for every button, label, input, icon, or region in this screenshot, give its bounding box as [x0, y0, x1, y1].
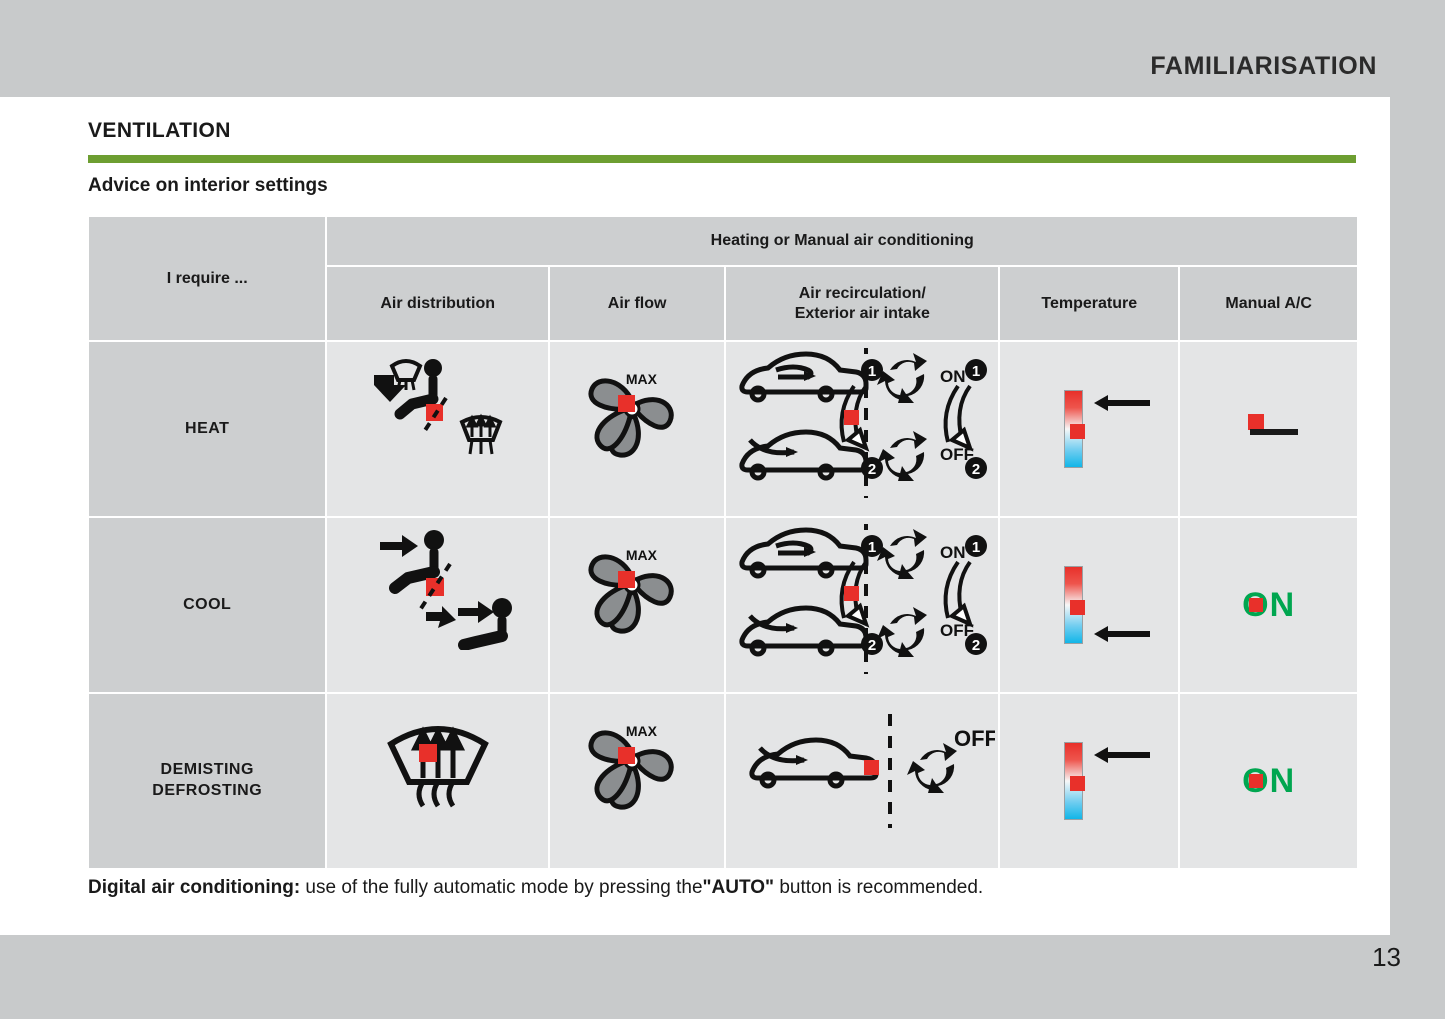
column-header-line2: Exterior air intake — [795, 305, 930, 322]
temperature-slider-icon — [1000, 518, 1178, 692]
svg-text:1: 1 — [972, 539, 980, 556]
svg-text:1: 1 — [868, 539, 876, 556]
svg-text:2: 2 — [972, 461, 980, 478]
column-header-temperature: Temperature — [1000, 267, 1178, 340]
footnote: Digital air conditioning: use of the ful… — [88, 877, 983, 899]
fan-icon — [572, 525, 702, 645]
option-number-2-badge-right: 2 — [965, 633, 987, 655]
svg-text:ON: ON — [940, 543, 966, 562]
header-title: FAMILIARISATION — [1150, 52, 1377, 81]
table-corner-label: I require ... — [89, 217, 325, 340]
section-divider-rule — [88, 155, 1356, 163]
temperature-marker — [1070, 776, 1085, 791]
car-exterior-intake-icon — [752, 740, 876, 786]
cell-heat-manual-ac — [1180, 342, 1357, 516]
row-label-cool: COOL — [89, 518, 325, 692]
column-header-air-distribution: Air distribution — [327, 267, 547, 340]
temperature-marker — [1070, 600, 1085, 615]
page-title: VENTILATION — [88, 119, 231, 143]
recirculation-options-group-icon: 1 2 — [730, 524, 995, 674]
column-header-air-flow: Air flow — [550, 267, 724, 340]
row-label-heat: HEAT — [89, 342, 325, 516]
footnote-lead: Digital air conditioning: — [88, 877, 300, 898]
cell-demist-temperature — [1000, 694, 1178, 868]
footnote-auto-label: "AUTO" — [703, 877, 775, 898]
cell-demist-manual-ac: ON — [1180, 694, 1357, 868]
footnote-text-1: use of the fully automatic mode by press… — [300, 877, 702, 898]
cell-demist-air-flow: MAX — [550, 694, 724, 868]
row-label-demisting-defrosting: DEMISTING DEFROSTING — [89, 694, 325, 868]
max-label: MAX — [626, 371, 657, 387]
cell-heat-air-recirculation: 1 2 — [726, 342, 998, 516]
max-label: MAX — [626, 723, 657, 739]
column-header-manual-ac: Manual A/C — [1180, 267, 1357, 340]
cell-heat-temperature — [1000, 342, 1178, 516]
cell-heat-air-flow: MAX — [550, 342, 724, 516]
recirculation-cycle-off-icon: OFF — [907, 726, 995, 793]
table-row: HEAT — [89, 342, 1357, 516]
manual-ac-on-badge: ON — [1242, 762, 1295, 801]
table-row: COOL — [89, 518, 1357, 692]
dash-bar — [1250, 429, 1298, 435]
temperature-arrow-hot-icon — [1092, 394, 1150, 412]
page-number: 13 — [1372, 942, 1401, 973]
table-row: DEMISTING DEFROSTING — [89, 694, 1357, 868]
recirculation-options-group-icon: OFF — [730, 708, 995, 828]
manual-ac-on-badge: ON — [1242, 586, 1295, 625]
svg-text:ON: ON — [940, 367, 966, 386]
svg-text:2: 2 — [972, 637, 980, 654]
cell-cool-air-flow: MAX — [550, 518, 724, 692]
svg-text:1: 1 — [972, 363, 980, 380]
table-group-header: Heating or Manual air conditioning — [327, 217, 1357, 265]
cell-demist-air-recirculation: OFF — [726, 694, 998, 868]
temperature-slider-icon — [1000, 342, 1178, 516]
footnote-text-2: button is recommended. — [774, 877, 983, 898]
face-level-airflow-icon — [350, 518, 525, 650]
subsection-title: Advice on interior settings — [88, 175, 328, 197]
fan-icon — [572, 349, 702, 469]
cell-cool-temperature — [1000, 518, 1178, 692]
content-panel: VENTILATION Advice on interior settings … — [0, 97, 1390, 935]
manual-ac-off-dash-icon — [1234, 412, 1304, 446]
page-header: FAMILIARISATION — [0, 0, 1445, 97]
row-label-line2: DEFROSTING — [152, 782, 262, 799]
option-number-1-badge-right: 1 — [965, 535, 987, 557]
footwell-and-screen-airflow-icon — [350, 342, 525, 472]
temperature-arrow-hot-icon — [1092, 746, 1150, 764]
column-header-line1: Air recirculation/ — [799, 285, 926, 302]
svg-text:1: 1 — [868, 363, 876, 380]
cell-demist-air-distribution — [327, 694, 547, 868]
temperature-slider-icon — [1000, 694, 1178, 868]
cell-cool-air-recirculation: 1 2 — [726, 518, 998, 692]
option-number-1-badge-right: 1 — [965, 359, 987, 381]
red-marker-chip — [1249, 598, 1263, 612]
windscreen-defrost-icon — [363, 700, 513, 820]
row-label-line1: DEMISTING — [161, 761, 254, 778]
red-marker-chip — [1249, 774, 1263, 788]
advice-table: I require ... Heating or Manual air cond… — [87, 215, 1359, 870]
table-header-row-group: I require ... Heating or Manual air cond… — [89, 217, 1357, 265]
temperature-marker — [1070, 424, 1085, 439]
svg-text:2: 2 — [868, 461, 876, 478]
svg-text:2: 2 — [868, 637, 876, 654]
manual-page: FAMILIARISATION VENTILATION Advice on in… — [0, 0, 1445, 1019]
recirculation-options-group-icon: 1 2 — [730, 348, 995, 498]
red-marker-chip — [1248, 414, 1264, 430]
fan-icon — [572, 701, 702, 821]
max-label: MAX — [626, 547, 657, 563]
svg-text:OFF: OFF — [954, 726, 995, 751]
column-header-air-recirculation: Air recirculation/ Exterior air intake — [726, 267, 998, 340]
temperature-arrow-cold-icon — [1092, 625, 1150, 643]
cell-cool-air-distribution — [327, 518, 547, 692]
option-number-2-badge-right: 2 — [965, 457, 987, 479]
cell-heat-air-distribution — [327, 342, 547, 516]
cell-cool-manual-ac: ON — [1180, 518, 1357, 692]
